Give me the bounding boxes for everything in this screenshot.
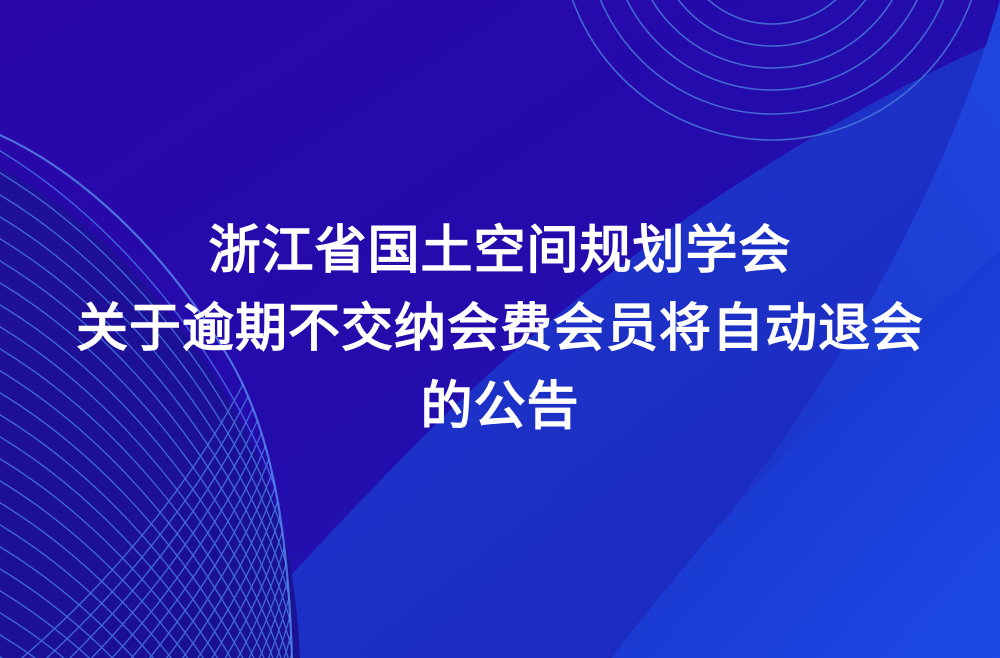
announcement-banner: 浙江省国土空间规划学会 关于逾期不交纳会费会员将自动退会 的公告 (0, 0, 1000, 658)
background-artwork (0, 0, 1000, 658)
